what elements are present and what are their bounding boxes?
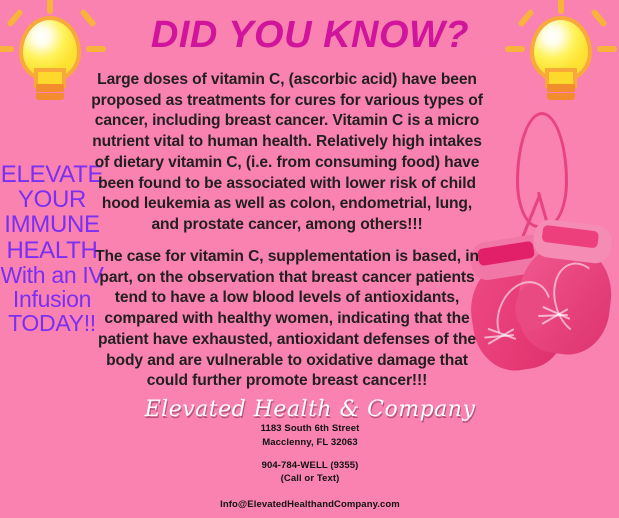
lightbulb-ray-left <box>0 46 14 52</box>
boxing-gloves-icon <box>468 112 618 380</box>
lightbulb-base-upper <box>36 84 64 92</box>
lightbulb-base-lower <box>36 93 64 100</box>
lightbulb-base-upper <box>547 84 575 92</box>
lightbulb-ray-right <box>597 46 617 52</box>
address-line-2: Macclenny, FL 32063 <box>110 436 510 450</box>
body-copy: Large doses of vitamin C, (ascorbic acid… <box>88 70 486 392</box>
lightbulb-ray-top-left <box>517 8 534 27</box>
lightbulb-glass <box>534 20 588 78</box>
lightbulb-base-lower <box>547 93 575 100</box>
footer-spacer <box>110 450 510 459</box>
footer-contact-block: Elevated Health & Company 1183 South 6th… <box>110 398 510 518</box>
lightbulb-ray-top <box>47 0 53 14</box>
phone-note: (Call or Text) <box>110 472 510 486</box>
lightbulb-neck <box>38 72 62 84</box>
body-paragraph-1: Large doses of vitamin C, (ascorbic acid… <box>88 70 486 236</box>
headline-did-you-know: DID YOU KNOW? <box>110 16 510 54</box>
footer-spacer <box>110 512 510 518</box>
email-address[interactable]: Info@ElevatedHealthandCompany.com <box>110 498 510 512</box>
lightbulb-ray-right <box>86 46 106 52</box>
lightbulb-neck <box>549 72 573 84</box>
body-paragraph-2: The case for vitamin C, supplementation … <box>88 247 486 392</box>
lightbulb-ray-top <box>558 0 564 14</box>
lightbulb-ray-top-left <box>6 8 23 27</box>
footer-spacer <box>110 486 510 498</box>
lightbulb-ray-top-right <box>79 8 96 27</box>
lightbulb-glass <box>23 20 77 78</box>
phone-number[interactable]: 904-784-WELL (9355) <box>110 459 510 473</box>
poster-canvas: DID YOU KNOW? ELEVATE YOUR IMMUNE HEALTH… <box>0 0 619 518</box>
address-line-1: 1183 South 6th Street <box>110 422 510 436</box>
lightbulb-icon-right <box>507 2 617 112</box>
company-logo-text: Elevated Health & Company <box>110 398 510 422</box>
lightbulb-ray-top-right <box>590 8 607 27</box>
